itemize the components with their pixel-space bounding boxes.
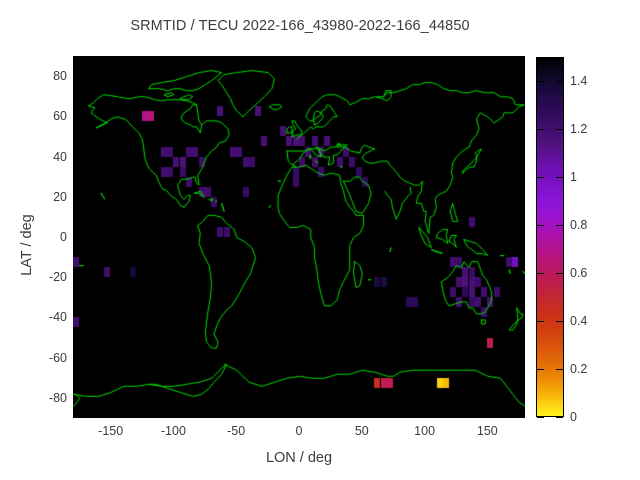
x-tick-label: -100: [161, 424, 186, 438]
y-tick-label: 0: [5, 230, 67, 244]
colorbar-gradient: [536, 57, 564, 417]
colorbar-tick-label: 0.2: [570, 362, 587, 376]
colorbar-tick-label: 1: [570, 170, 577, 184]
x-tick-label: 150: [477, 424, 498, 438]
y-tick-label: -20: [5, 270, 67, 284]
colorbar-tick: [556, 321, 563, 322]
colorbar-tick-label: 0.6: [570, 266, 587, 280]
colorbar-tick-label: 1.4: [570, 74, 587, 88]
x-tick-label: -50: [227, 424, 245, 438]
map-heatmap-canvas: [73, 56, 525, 418]
y-tick-label: 80: [5, 69, 67, 83]
colorbar-tick: [556, 417, 563, 418]
colorbar-tick: [537, 225, 544, 226]
page-title: SRMTID / TECU 2022-166_43980-2022-166_44…: [0, 18, 600, 34]
colorbar-tick: [537, 417, 544, 418]
y-tick-label: -40: [5, 310, 67, 324]
colorbar-tick-label: 0.8: [570, 218, 587, 232]
colorbar-tick: [556, 225, 563, 226]
colorbar-tick: [537, 321, 544, 322]
colorbar-tick: [556, 81, 563, 82]
colorbar-tick-label: 1.2: [570, 122, 587, 136]
x-tick-label: -150: [98, 424, 123, 438]
colorbar-tick: [537, 81, 544, 82]
colorbar-tick: [537, 273, 544, 274]
colorbar-tick: [556, 177, 563, 178]
colorbar-tick: [537, 129, 544, 130]
colorbar-tick: [556, 369, 563, 370]
colorbar-tick-label: 0.4: [570, 314, 587, 328]
colorbar: [536, 57, 564, 417]
x-tick-label: 50: [355, 424, 369, 438]
y-tick-label: -80: [5, 391, 67, 405]
y-tick-label: 60: [5, 109, 67, 123]
y-tick-label: -60: [5, 351, 67, 365]
x-tick-label: 100: [414, 424, 435, 438]
colorbar-tick: [556, 273, 563, 274]
colorbar-tick: [556, 129, 563, 130]
map-plot-area[interactable]: [73, 56, 525, 418]
colorbar-tick-label: 0: [570, 410, 577, 424]
colorbar-tick-labels: 1.41.210.80.60.40.20: [570, 57, 630, 417]
x-axis-label: LON / deg: [73, 450, 525, 466]
colorbar-tick: [537, 369, 544, 370]
x-axis-ticks: -150-100-50050100150: [73, 424, 525, 442]
y-axis-label: LAT / deg: [19, 185, 35, 305]
y-tick-label: 20: [5, 190, 67, 204]
y-tick-label: 40: [5, 150, 67, 164]
x-tick-label: 0: [296, 424, 303, 438]
colorbar-tick: [537, 177, 544, 178]
